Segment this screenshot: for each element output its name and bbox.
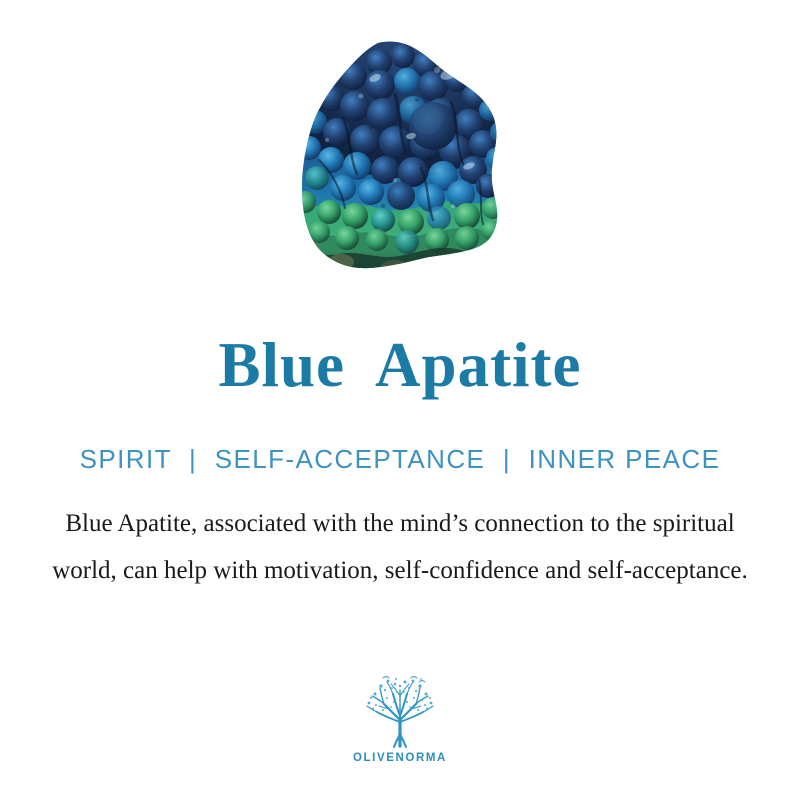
product-description: Blue Apatite, associated with the mind’s… [40, 500, 760, 594]
keyword-inner-peace: INNER PEACE [529, 444, 721, 474]
brand-logo: OLIVENORMA [0, 676, 800, 764]
keyword-spirit: SPIRIT [80, 444, 172, 474]
gemstone-image-area [0, 0, 800, 300]
brand-name: OLIVENORMA [353, 752, 447, 764]
product-info-card: Blue Apatite SPIRIT | SELF-ACCEPTANCE | … [0, 0, 800, 800]
keyword-separator-1: | [180, 444, 206, 475]
page-title: Blue Apatite [0, 332, 800, 398]
keyword-self-acceptance: SELF-ACCEPTANCE [215, 444, 485, 474]
keyword-strip: SPIRIT | SELF-ACCEPTANCE | INNER PEACE [0, 444, 800, 475]
blue-apatite-stone-image [283, 40, 523, 283]
tree-of-life-icon [361, 676, 439, 750]
keyword-separator-2: | [494, 444, 520, 475]
